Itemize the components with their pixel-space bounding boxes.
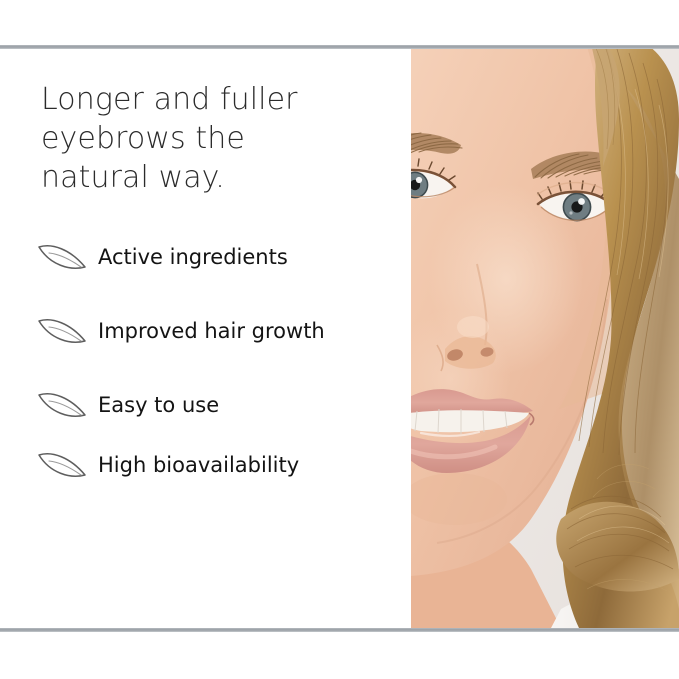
list-item-label: Active ingredients xyxy=(98,245,288,269)
bottom-divider-rule xyxy=(0,628,679,632)
feature-list: Active ingredients Improved hair growth … xyxy=(36,240,406,482)
list-item-label: High bioavailability xyxy=(98,453,299,477)
list-item: High bioavailability xyxy=(36,448,406,482)
content-band: Longer and fuller eyebrows the natural w… xyxy=(0,49,679,628)
list-item: Easy to use xyxy=(36,388,406,422)
list-item-label: Easy to use xyxy=(98,393,219,417)
page-title: Longer and fuller eyebrows the natural w… xyxy=(41,80,381,197)
text-panel: Longer and fuller eyebrows the natural w… xyxy=(0,49,411,628)
leaf-icon xyxy=(36,448,88,482)
list-item: Improved hair growth xyxy=(36,314,406,348)
leaf-icon xyxy=(36,388,88,422)
portrait-illustration xyxy=(411,49,679,628)
list-item-label: Improved hair growth xyxy=(98,319,325,343)
list-item: Active ingredients xyxy=(36,240,406,274)
model-photo xyxy=(411,49,679,628)
leaf-icon xyxy=(36,240,88,274)
promo-banner: Longer and fuller eyebrows the natural w… xyxy=(0,0,679,679)
leaf-icon xyxy=(36,314,88,348)
